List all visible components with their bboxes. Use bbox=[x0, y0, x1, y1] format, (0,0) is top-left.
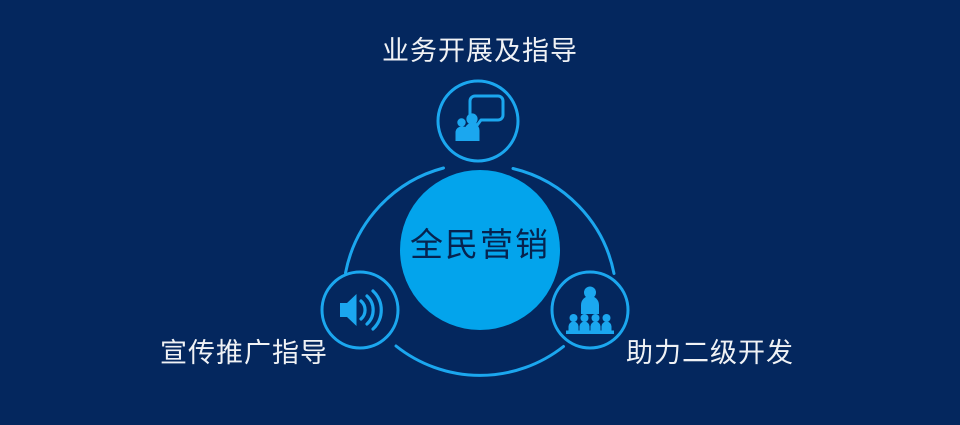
node-bottom-left-circle[interactable] bbox=[322, 272, 398, 348]
ring-arc-right-to-left bbox=[396, 346, 564, 375]
node-bottom-left-label: 宣传推广指导 bbox=[160, 340, 328, 367]
node-top[interactable] bbox=[438, 81, 518, 161]
node-bottom-right-label: 助力二级开发 bbox=[626, 340, 794, 367]
node-bottom-right[interactable] bbox=[552, 272, 628, 348]
node-top-circle[interactable] bbox=[438, 81, 518, 161]
node-top-label: 业务开展及指导 bbox=[0, 38, 960, 65]
slide-canvas: 全民营销 业务开展及指导 宣传推广指导 助力二级开发 bbox=[0, 0, 960, 425]
node-bottom-left[interactable] bbox=[322, 272, 398, 348]
hub-label: 全民营销 bbox=[380, 228, 580, 261]
